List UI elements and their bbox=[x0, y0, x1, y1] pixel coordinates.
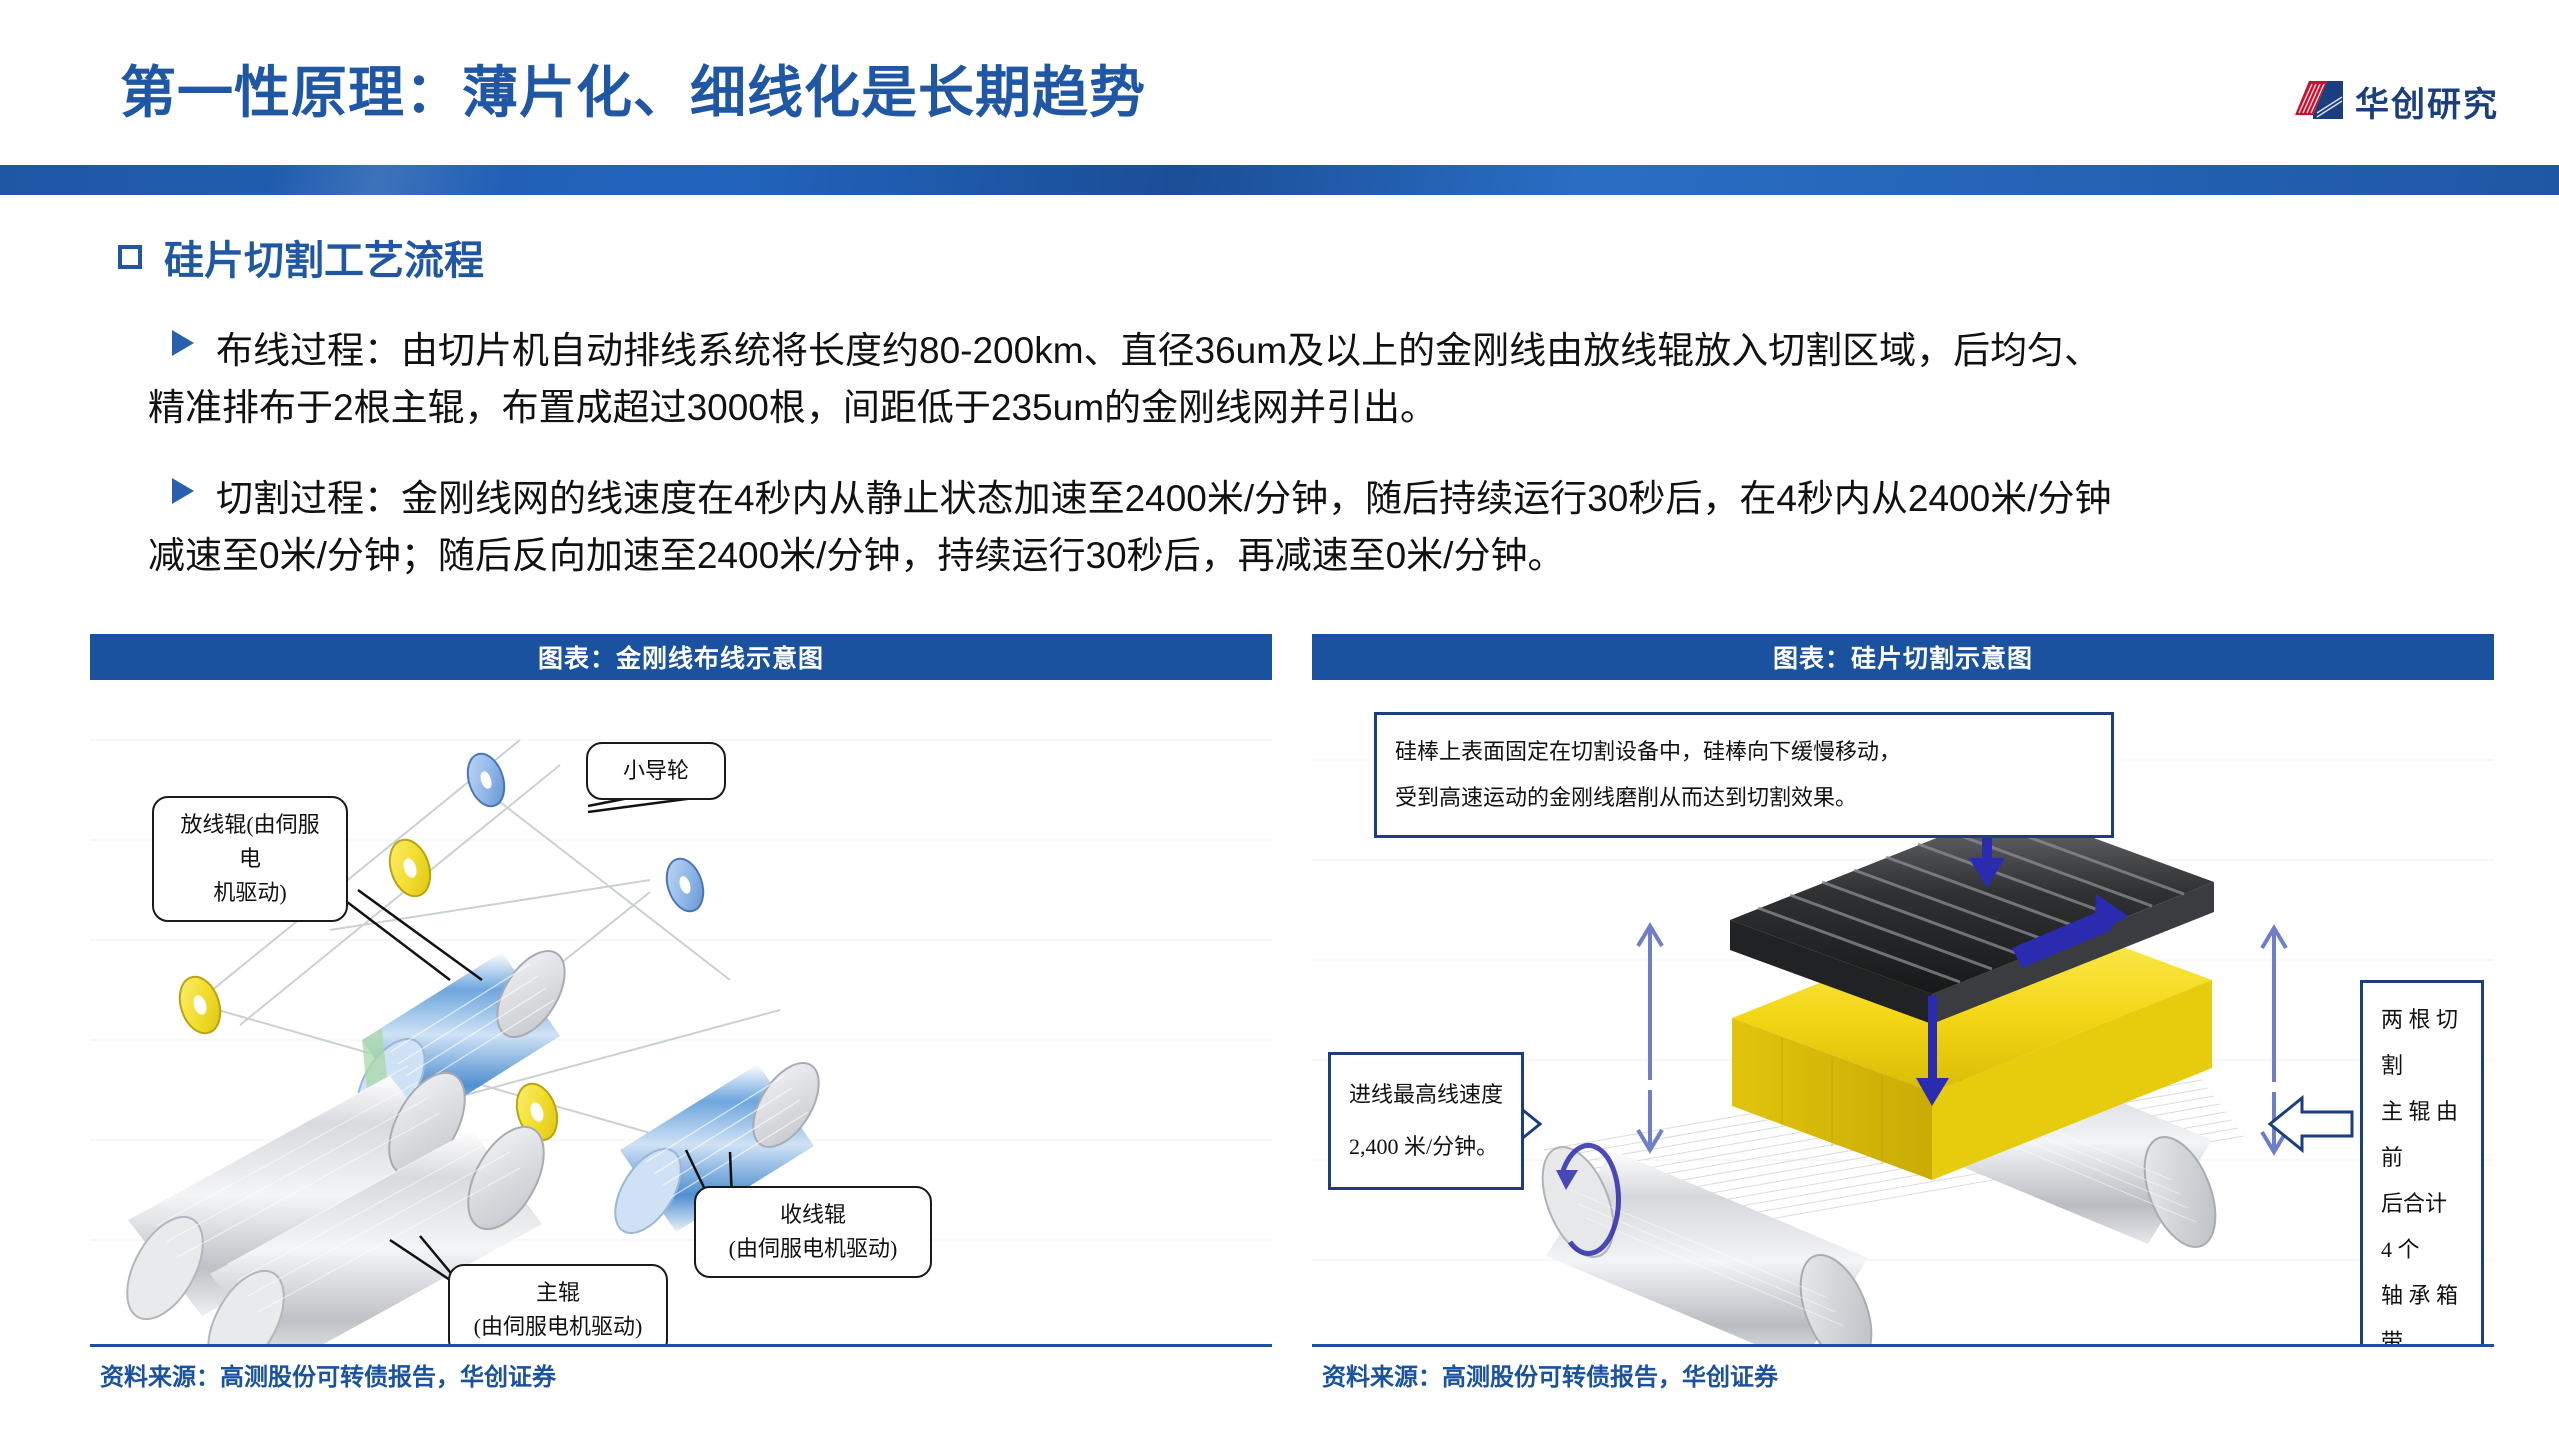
paragraph-cutting-process: 切割过程：金刚线网的线速度在4秒内从静止状态加速至2400米/分钟，随后持续运行… bbox=[216, 470, 2506, 584]
triangle-bullet-icon bbox=[172, 478, 194, 504]
panel-diamond-wire-layout: 图表：金刚线布线示意图 bbox=[90, 634, 1272, 1394]
panel-figure-wafer-cutting: 硅棒上表面固定在切割设备中，硅棒向下缓慢移动， 受到高速运动的金刚线磨削从而达到… bbox=[1312, 680, 2494, 1344]
paragraph-line: 布线过程：由切片机自动排线系统将长度约80-200km、直径36um及以上的金刚… bbox=[216, 330, 2101, 371]
note-line: 硅棒上表面固定在切割设备中，硅棒向下缓慢移动， bbox=[1395, 729, 2093, 775]
brand-name: 华创研究 bbox=[2355, 77, 2499, 126]
main-roller-bearing-note: 两 根 切 割 主 辊 由 前 后合计 4 个 轴 承 箱 带 动自转。 bbox=[2360, 980, 2484, 1344]
takeup-roller-callout: 收线辊 (由伺服电机驱动) bbox=[694, 1186, 932, 1278]
note-line: 两 根 切 割 bbox=[2381, 997, 2463, 1089]
callout-line: 收线辊 bbox=[712, 1198, 914, 1232]
paragraph-wiring-process: 布线过程：由切片机自动排线系统将长度约80-200km、直径36um及以上的金刚… bbox=[216, 322, 2506, 436]
paragraph-line: 切割过程：金刚线网的线速度在4秒内从静止状态加速至2400米/分钟，随后持续运行… bbox=[216, 478, 2112, 519]
callout-line: 主辊 bbox=[466, 1276, 650, 1310]
small-guide-wheel-callout: 小导轮 bbox=[586, 742, 726, 800]
slide-header: 第一性原理：薄片化、细线化是长期趋势 华创研究 bbox=[0, 0, 2559, 165]
header-accent-band bbox=[0, 165, 2559, 195]
section-heading-label: 硅片切割工艺流程 bbox=[164, 228, 484, 286]
triangle-bullet-icon bbox=[172, 330, 194, 356]
wire-speed-note: 进线最高线速度 2,400 米/分钟。 bbox=[1328, 1052, 1524, 1190]
callout-line: 小导轮 bbox=[604, 754, 708, 788]
paragraph-line: 减速至0米/分钟；随后反向加速至2400米/分钟，持续运行30秒后，再减速至0米… bbox=[148, 527, 2506, 584]
panel-title: 图表：硅片切割示意图 bbox=[1312, 634, 2494, 680]
brand-lockup: 华创研究 bbox=[2293, 75, 2499, 127]
ingot-note: 硅棒上表面固定在切割设备中，硅棒向下缓慢移动， 受到高速运动的金刚线磨削从而达到… bbox=[1374, 712, 2114, 838]
book-logo-icon bbox=[2293, 75, 2345, 127]
callout-line: (由伺服电机驱动) bbox=[466, 1310, 650, 1344]
source-note: 资料来源：高测股份可转债报告，华创证券 bbox=[1322, 1357, 1778, 1392]
panel-title: 图表：金刚线布线示意图 bbox=[90, 634, 1272, 680]
note-line: 2,400 米/分钟。 bbox=[1349, 1121, 1503, 1173]
bearing-block-arrow-icon bbox=[2270, 1098, 2352, 1150]
square-bullet-icon bbox=[118, 245, 142, 269]
footer-rule bbox=[90, 1344, 1272, 1347]
note-line: 进线最高线速度 bbox=[1349, 1069, 1503, 1121]
note-line: 后合计 4 个 bbox=[2381, 1181, 2463, 1273]
panel-figure-diamond-wire: 放线辊(由伺服电 机驱动) 小导轮 主辊 (由伺服电机驱动) 收线辊 (由伺服电… bbox=[90, 680, 1272, 1344]
paragraph-line: 精准排布于2根主辊，布置成超过3000根，间距低于235um的金刚线网并引出。 bbox=[148, 379, 2506, 436]
panel-wafer-cutting: 图表：硅片切割示意图 bbox=[1312, 634, 2494, 1394]
main-roller-front-shape bbox=[1528, 1137, 1885, 1344]
panel-footer: 资料来源：高测股份可转债报告，华创证券 bbox=[90, 1344, 1272, 1394]
source-note: 资料来源：高测股份可转债报告，华创证券 bbox=[100, 1357, 556, 1392]
note-line: 受到高速运动的金刚线磨削从而达到切割效果。 bbox=[1395, 775, 2093, 821]
callout-line: 机驱动) bbox=[170, 876, 330, 910]
page-title: 第一性原理：薄片化、细线化是长期趋势 bbox=[120, 48, 1146, 129]
payoff-roller-callout: 放线辊(由伺服电 机驱动) bbox=[152, 796, 348, 922]
footer-rule bbox=[1312, 1344, 2494, 1347]
section-heading: 硅片切割工艺流程 bbox=[118, 228, 484, 286]
main-roller-callout: 主辊 (由伺服电机驱动) bbox=[448, 1264, 668, 1344]
note-line: 轴 承 箱 带 bbox=[2381, 1273, 2463, 1344]
slide-root: 第一性原理：薄片化、细线化是长期趋势 华创研究 bbox=[0, 0, 2559, 1439]
panel-footer: 资料来源：高测股份可转债报告，华创证券 bbox=[1312, 1344, 2494, 1394]
callout-line: 放线辊(由伺服电 bbox=[170, 808, 330, 876]
note-line: 主 辊 由 前 bbox=[2381, 1089, 2463, 1181]
callout-line: (由伺服电机驱动) bbox=[712, 1232, 914, 1266]
